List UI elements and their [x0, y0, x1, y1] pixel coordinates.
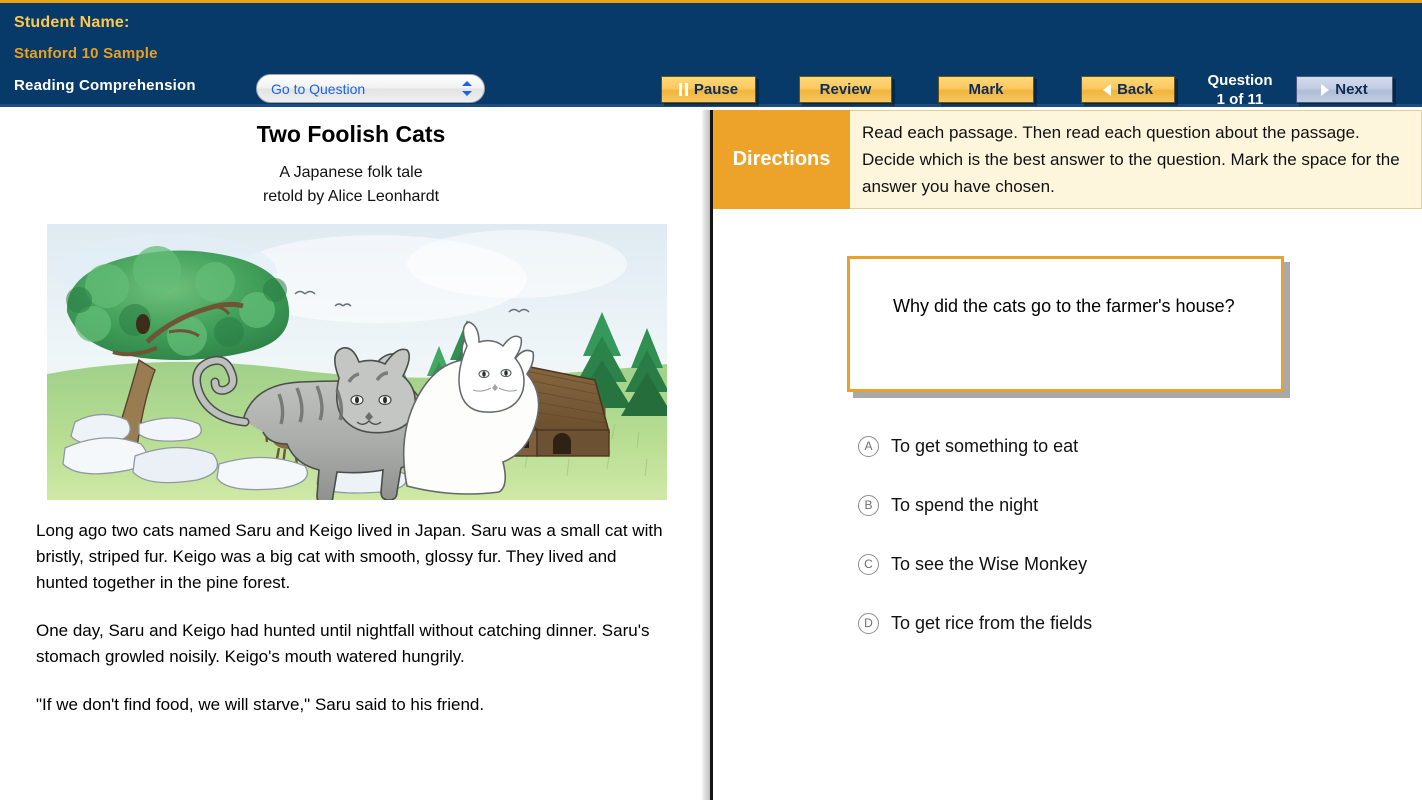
pause-button[interactable]: Pause [661, 76, 756, 103]
answer-options: A To get something to eat B To spend the… [858, 434, 1398, 670]
go-to-question-value: Go to Question [271, 81, 461, 97]
mark-button[interactable]: Mark [938, 76, 1034, 103]
question-counter-line1: Question [1190, 71, 1290, 90]
test-app-window: Student Name: Stanford 10 Sample Reading… [0, 0, 1422, 800]
passage-body: Long ago two cats named Saru and Keigo l… [36, 518, 666, 718]
answer-label-a: To get something to eat [891, 434, 1078, 458]
answer-option-b[interactable]: B To spend the night [858, 493, 1398, 552]
review-button[interactable]: Review [799, 76, 892, 103]
illustration-svg [47, 224, 667, 500]
back-button-label: Back [1117, 81, 1153, 98]
passage-title: Two Foolish Cats [0, 121, 702, 148]
go-to-question-dropdown[interactable]: Go to Question [256, 74, 485, 103]
directions-text: Read each passage. Then read each questi… [850, 110, 1422, 209]
question-counter: Question 1 of 11 [1190, 71, 1290, 109]
passage-paragraph: "If we don't find food, we will starve,"… [36, 692, 666, 718]
pause-icon [679, 83, 688, 96]
mark-button-label: Mark [968, 81, 1003, 98]
answer-label-c: To see the Wise Monkey [891, 552, 1087, 576]
passage-subtitle: A Japanese folk tale retold by Alice Leo… [0, 161, 702, 209]
answer-option-c[interactable]: C To see the Wise Monkey [858, 552, 1398, 611]
next-button-label: Next [1335, 81, 1368, 98]
go-to-question-select[interactable]: Go to Question [256, 74, 485, 103]
subject-title: Reading Comprehension [14, 77, 196, 94]
question-stem-text: Why did the cats go to the farmer's hous… [893, 293, 1243, 319]
chevron-up-down-icon [461, 79, 474, 98]
passage-subtitle-line1: A Japanese folk tale [0, 161, 702, 185]
passage-illustration [47, 224, 667, 500]
answer-label-d: To get rice from the fields [891, 611, 1092, 635]
question-stem-box: Why did the cats go to the farmer's hous… [847, 256, 1284, 392]
triangle-right-icon [1321, 84, 1329, 96]
pause-button-label: Pause [694, 81, 738, 98]
answer-label-b: To spend the night [891, 493, 1038, 517]
student-name-value: Stanford 10 Sample [14, 45, 158, 62]
review-button-label: Review [820, 81, 872, 98]
answer-bubble-a[interactable]: A [858, 436, 879, 457]
passage-panel[interactable]: Two Foolish Cats A Japanese folk tale re… [0, 110, 702, 800]
passage-paragraph: One day, Saru and Keigo had hunted until… [36, 618, 666, 670]
directions-banner: Directions Read each passage. Then read … [713, 110, 1422, 209]
next-button[interactable]: Next [1296, 76, 1393, 103]
answer-bubble-b[interactable]: B [858, 495, 879, 516]
app-header: Student Name: Stanford 10 Sample Reading… [0, 3, 1422, 107]
answer-bubble-d[interactable]: D [858, 613, 879, 634]
directions-label: Directions [713, 110, 850, 209]
triangle-left-icon [1103, 84, 1111, 96]
answer-option-a[interactable]: A To get something to eat [858, 434, 1398, 493]
back-button[interactable]: Back [1081, 76, 1175, 103]
answer-bubble-c[interactable]: C [858, 554, 879, 575]
question-counter-line2: 1 of 11 [1190, 90, 1290, 109]
passage-subtitle-line2: retold by Alice Leonhardt [0, 185, 702, 209]
answer-option-d[interactable]: D To get rice from the fields [858, 611, 1398, 670]
passage-paragraph: Long ago two cats named Saru and Keigo l… [36, 518, 666, 596]
student-name-label: Student Name: [14, 14, 130, 32]
